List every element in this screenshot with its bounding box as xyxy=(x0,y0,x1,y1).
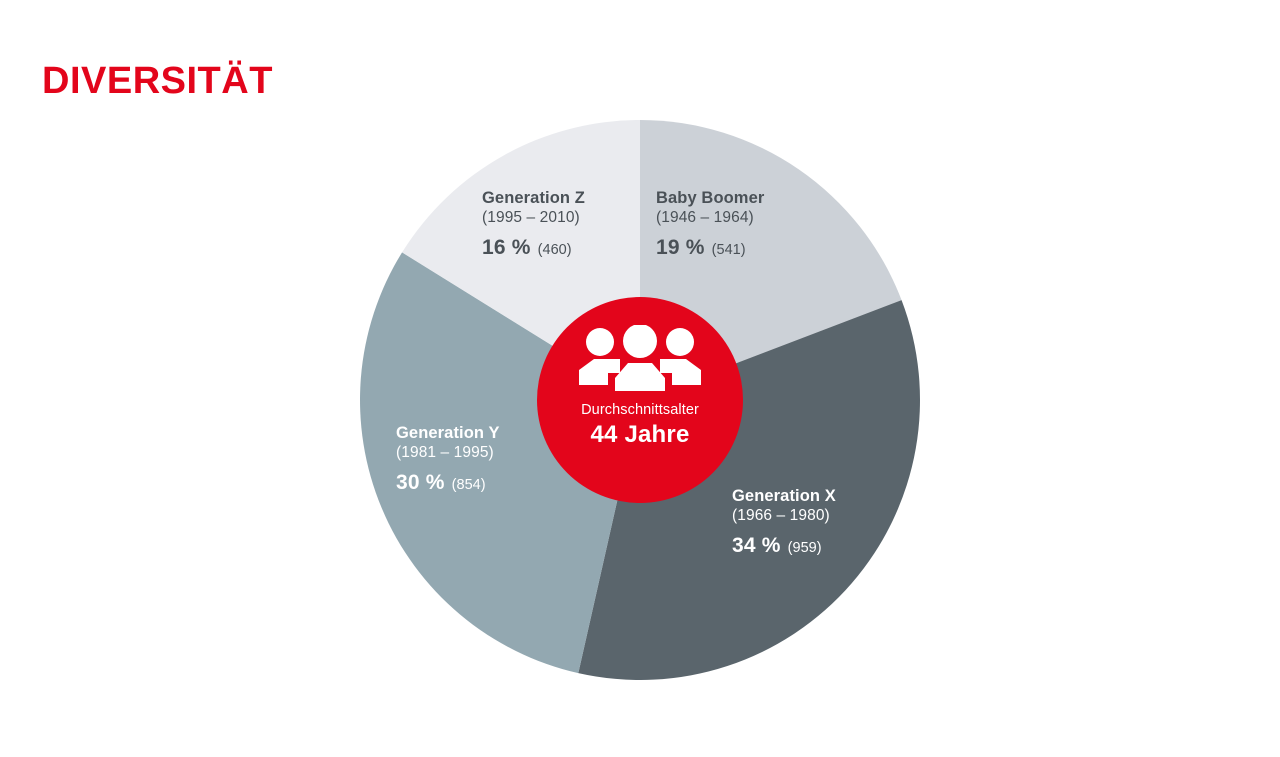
slice-count-generation-z: (460) xyxy=(538,242,572,260)
page-title: DIVERSITÄT xyxy=(42,61,273,103)
slice-years-baby-boomer: (1946 – 1964) xyxy=(656,209,764,228)
slice-count-generation-x: (959) xyxy=(788,540,822,558)
slice-percent-generation-z: 16 % xyxy=(482,235,531,261)
slice-label-baby-boomer: Baby Boomer (1946 – 1964) 19 % (541) xyxy=(656,188,764,261)
slice-years-generation-y: (1981 – 1995) xyxy=(396,444,500,463)
slice-years-generation-x: (1966 – 1980) xyxy=(732,507,836,526)
slice-figure-baby-boomer: 19 % (541) xyxy=(656,235,764,261)
people-group-icon xyxy=(578,325,702,391)
slice-label-generation-y: Generation Y (1981 – 1995) 30 % (854) xyxy=(396,423,500,496)
slice-percent-baby-boomer: 19 % xyxy=(656,235,705,261)
slice-years-generation-z: (1995 – 2010) xyxy=(482,209,585,228)
slice-label-generation-x: Generation X (1966 – 1980) 34 % (959) xyxy=(732,486,836,559)
diversity-pie-chart: Generation Z (1995 – 2010) 16 % (460) Ba… xyxy=(360,120,920,680)
slice-count-generation-y: (854) xyxy=(452,477,486,495)
average-age-caption: Durchschnittsalter xyxy=(581,403,699,418)
average-age-value: 44 Jahre xyxy=(590,423,689,447)
slice-name-baby-boomer: Baby Boomer xyxy=(656,188,764,208)
slice-count-baby-boomer: (541) xyxy=(712,242,746,260)
average-age-badge: Durchschnittsalter 44 Jahre xyxy=(537,297,743,503)
slice-name-generation-z: Generation Z xyxy=(482,188,585,208)
slice-name-generation-x: Generation X xyxy=(732,486,836,506)
slice-label-generation-z: Generation Z (1995 – 2010) 16 % (460) xyxy=(482,188,585,261)
slice-figure-generation-x: 34 % (959) xyxy=(732,533,836,559)
slice-percent-generation-x: 34 % xyxy=(732,533,781,559)
slice-figure-generation-y: 30 % (854) xyxy=(396,470,500,496)
slice-name-generation-y: Generation Y xyxy=(396,423,500,443)
slice-percent-generation-y: 30 % xyxy=(396,470,445,496)
slice-figure-generation-z: 16 % (460) xyxy=(482,235,585,261)
